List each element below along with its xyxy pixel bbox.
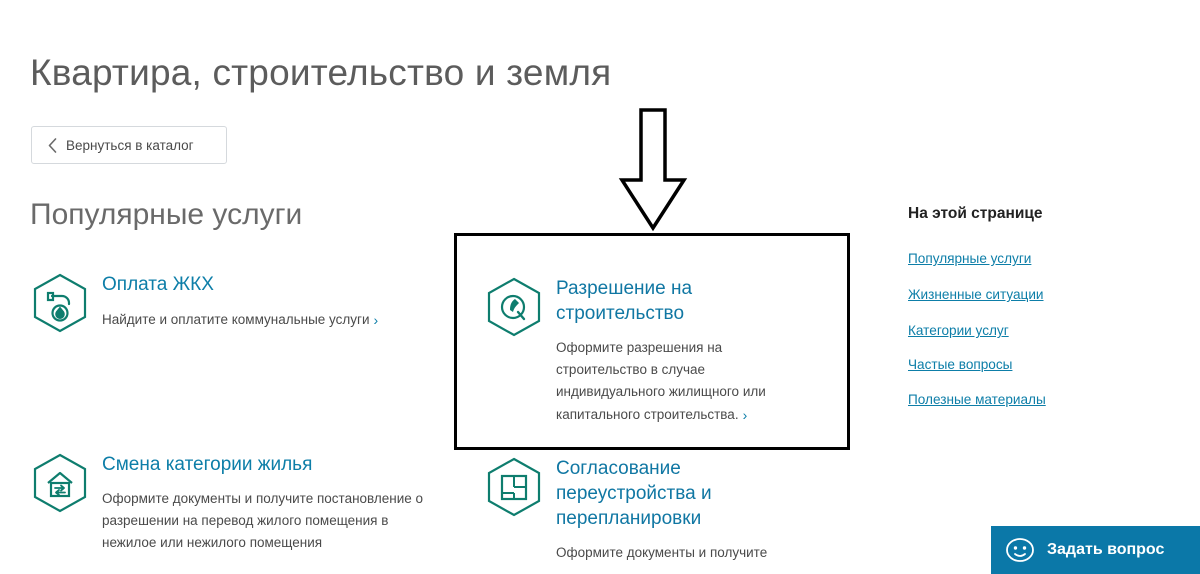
rail-link-service-categories[interactable]: Категории услуг [908,323,1009,338]
service-desc-housing-category: Оформите документы и получите постановле… [102,488,430,554]
chevron-right-icon[interactable]: › [369,309,378,332]
service-desc-zhkh: Найдите и оплатите коммунальные услуги› [102,308,420,331]
service-desc-zhkh-text: Найдите и оплатите коммунальные услуги [102,312,369,327]
ask-question-button[interactable]: Задать вопрос [991,526,1200,574]
service-card-reconstruction-approval[interactable]: Согласование переустройства и перепланир… [484,456,824,564]
ask-question-label: Задать вопрос [1047,541,1164,559]
service-title-reconstruction-approval[interactable]: Согласование переустройства и перепланир… [556,456,824,531]
chevron-right-icon[interactable]: › [739,404,748,427]
house-exchange-icon [30,452,102,514]
rail-link-faq[interactable]: Частые вопросы [908,357,1012,372]
back-to-catalog-button[interactable]: Вернуться в каталог [31,126,227,164]
service-text-housing-category: Смена категории жилья Оформите документы… [102,452,430,554]
service-card-housing-category[interactable]: Смена категории жилья Оформите документы… [30,452,430,554]
service-title-zhkh[interactable]: Оплата ЖКХ [102,272,420,297]
service-text-zhkh: Оплата ЖКХ Найдите и оплатите коммунальн… [102,272,420,331]
service-desc-reconstruction-approval: Оформите документы и получите [556,542,824,564]
rail-link-useful-materials[interactable]: Полезные материалы [908,392,1046,407]
page-root: Квартира, строительство и земля Вернутьс… [0,0,1200,574]
page-title: Квартира, строительство и земля [30,52,611,94]
service-text-reconstruction-approval: Согласование переустройства и перепланир… [556,456,824,564]
faucet-icon [30,272,102,334]
service-card-zhkh[interactable]: Оплата ЖКХ Найдите и оплатите коммунальн… [30,272,420,334]
back-to-catalog-label: Вернуться в каталог [66,138,194,153]
rail-title: На этой странице [908,205,1043,223]
service-title-construction-permit[interactable]: Разрешение на строительство [556,276,814,326]
rail-link-popular-services[interactable]: Популярные услуги [908,251,1031,266]
service-desc-construction-permit-text: Оформите разрешения на строительство в с… [556,340,766,422]
rail-link-life-situations[interactable]: Жизненные ситуации [908,287,1044,302]
service-card-construction-permit[interactable]: Разрешение на строительство Оформите раз… [484,276,814,426]
section-heading-popular-services: Популярные услуги [30,198,302,232]
service-title-housing-category[interactable]: Смена категории жилья [102,452,430,477]
service-text-construction-permit: Разрешение на строительство Оформите раз… [556,276,814,426]
trowel-hexagon-icon [484,276,556,338]
down-arrow-annotation [618,108,688,232]
floorplan-hexagon-icon [484,456,556,518]
chevron-left-icon [40,138,64,153]
chat-face-icon [1005,535,1035,565]
service-desc-construction-permit: Оформите разрешения на строительство в с… [556,337,814,425]
